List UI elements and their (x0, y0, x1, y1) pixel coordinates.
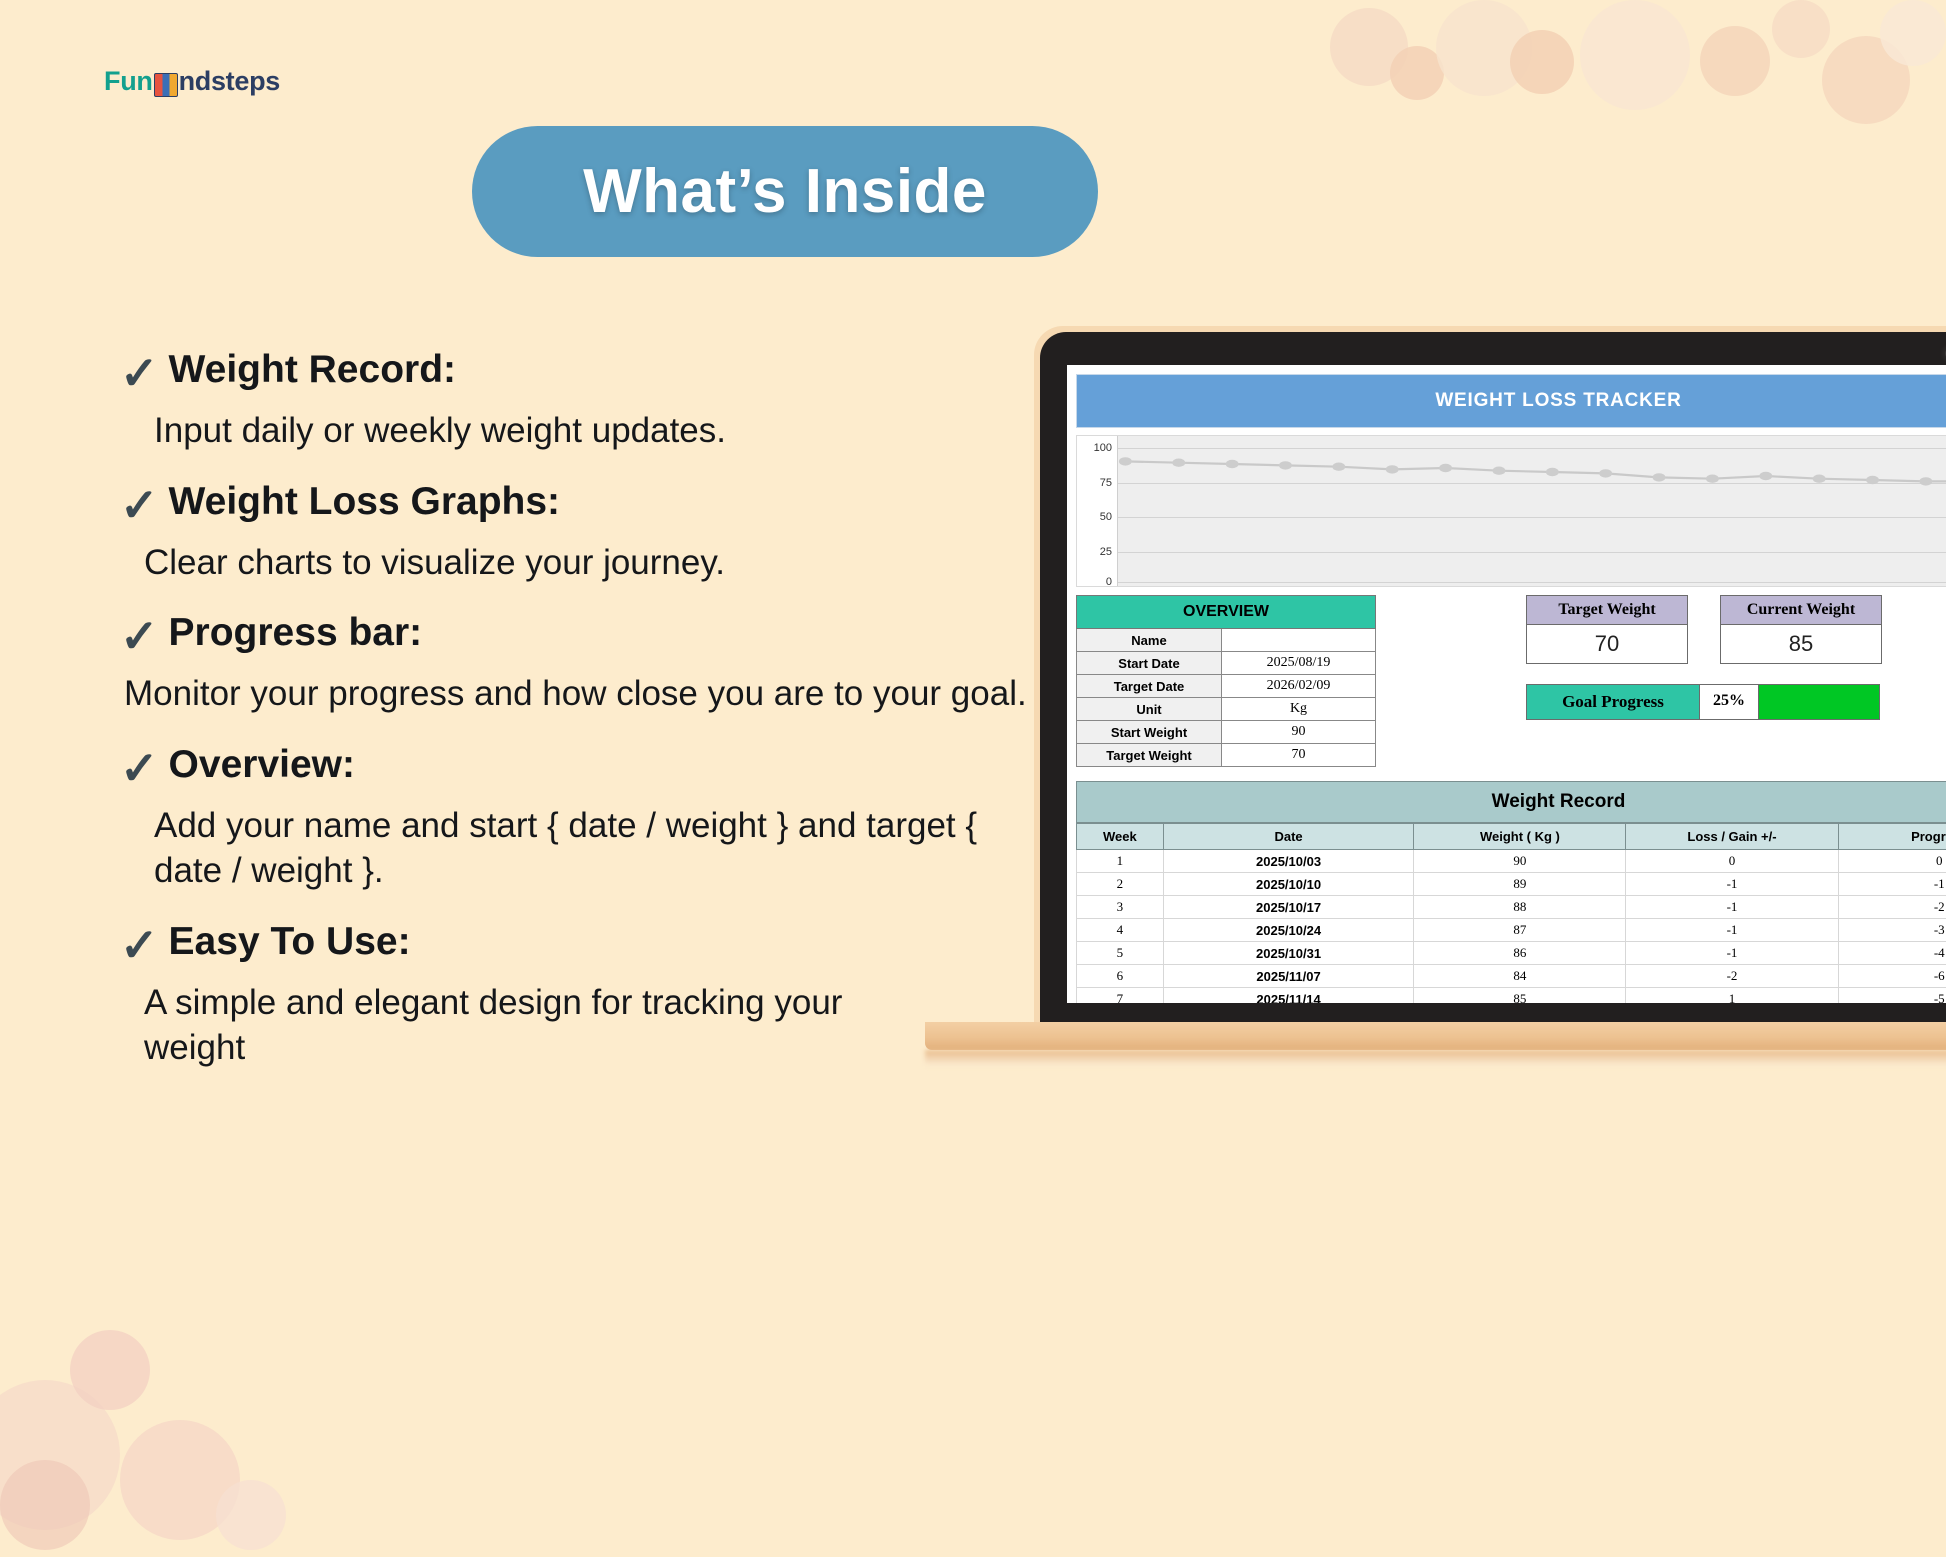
brand-name-part1: Fun (104, 66, 153, 97)
list-item: ✓ Weight Record: Input daily or weekly w… (120, 348, 1080, 454)
table-cell[interactable]: 4 (1077, 919, 1164, 942)
steps-icon (154, 73, 178, 97)
table-cell[interactable]: -5 (1838, 988, 1946, 1004)
overview-value[interactable] (1222, 629, 1376, 652)
list-item: ✓ Weight Loss Graphs: Clear charts to vi… (120, 480, 1080, 586)
table-cell[interactable]: 2025/10/24 (1163, 919, 1414, 942)
table-cell[interactable]: 2025/10/17 (1163, 896, 1414, 919)
feature-description: Clear charts to visualize your journey. (144, 540, 1080, 586)
table-cell[interactable]: 90 (1414, 850, 1626, 873)
bokeh-decoration (1580, 0, 1690, 110)
bokeh-decoration (1436, 0, 1532, 96)
overview-title: OVERVIEW (1077, 596, 1376, 629)
spreadsheet-banner-title: WEIGHT LOSS TRACKER (1435, 390, 1681, 412)
laptop-screen: WEIGHT LOSS TRACKER 100 75 50 25 0 (1067, 365, 1946, 1003)
feature-list: ✓ Weight Record: Input daily or weekly w… (120, 348, 1080, 1097)
table-cell[interactable]: 1 (1626, 988, 1838, 1004)
feature-title: Weight Loss Graphs: (169, 480, 561, 525)
table-cell[interactable]: 89 (1414, 873, 1626, 896)
feature-title: Weight Record: (169, 348, 456, 393)
table-cell[interactable]: -2 (1838, 896, 1946, 919)
chart-series-markers (1118, 436, 1946, 586)
table-cell[interactable]: 2025/10/31 (1163, 942, 1414, 965)
feature-title: Easy To Use: (169, 920, 411, 965)
table-row: Target Weight70 (1077, 744, 1376, 767)
y-tick-label: 50 (1100, 511, 1112, 523)
column-header: Date (1163, 824, 1414, 850)
feature-description: Monitor your progress and how close you … (124, 671, 1080, 717)
table-cell[interactable]: 7 (1077, 988, 1164, 1004)
table-cell[interactable]: -4 (1838, 942, 1946, 965)
column-header: Week (1077, 824, 1164, 850)
brand-name-part2: ndsteps (179, 66, 280, 97)
bokeh-decoration (216, 1480, 286, 1550)
table-row: Name (1077, 629, 1376, 652)
overview-label: Target Date (1077, 675, 1222, 698)
bokeh-decoration (1330, 8, 1408, 86)
table-row: 52025/10/3186-1-4 (1077, 942, 1946, 965)
weight-record-table: WeekDateWeight ( Kg )Loss / Gain +/-Prog… (1076, 823, 1946, 1003)
spreadsheet: WEIGHT LOSS TRACKER 100 75 50 25 0 (1067, 374, 1946, 1003)
goal-progress-fill (1759, 685, 1879, 719)
table-body: 12025/10/03900022025/10/1089-1-132025/10… (1077, 850, 1946, 1004)
bokeh-decoration (1510, 30, 1574, 94)
laptop-base-shadow (925, 1050, 1946, 1066)
weight-loss-chart: 100 75 50 25 0 (1076, 435, 1946, 587)
table-row: 22025/10/1089-1-1 (1077, 873, 1946, 896)
table-cell[interactable]: -1 (1626, 896, 1838, 919)
goal-progress-label: Goal Progress (1527, 685, 1700, 719)
bokeh-decoration (120, 1420, 240, 1540)
table-cell[interactable]: 0 (1626, 850, 1838, 873)
table-cell[interactable]: -1 (1626, 919, 1838, 942)
list-item: ✓ Overview: Add your name and start { da… (120, 743, 1080, 894)
page-title-text: What’s Inside (583, 156, 987, 227)
feature-description: Add your name and start { date / weight … (154, 803, 1034, 894)
table-row: 62025/11/0784-2-6 (1077, 965, 1946, 988)
y-tick-label: 25 (1100, 546, 1112, 558)
check-icon: ✓ (120, 350, 159, 396)
table-cell[interactable]: -3 (1838, 919, 1946, 942)
weight-record-section: Weight Record WeekDateWeight ( Kg )Loss … (1076, 781, 1946, 1003)
feature-description: Input daily or weekly weight updates. (154, 408, 1080, 454)
overview-value[interactable]: Kg (1222, 698, 1376, 721)
chart-plot-area (1117, 436, 1946, 586)
current-weight-value[interactable]: 85 (1721, 625, 1881, 663)
column-header: Loss / Gain +/- (1626, 824, 1838, 850)
weight-record-title: Weight Record (1076, 781, 1946, 823)
overview-label: Target Weight (1077, 744, 1222, 767)
table-cell[interactable]: 2025/11/07 (1163, 965, 1414, 988)
table-cell[interactable]: -1 (1626, 873, 1838, 896)
spreadsheet-banner: WEIGHT LOSS TRACKER (1076, 374, 1946, 428)
page-title: What’s Inside (472, 126, 1098, 257)
overview-table: OVERVIEW Name Start Date2025/08/19 Targe… (1076, 595, 1376, 767)
laptop-lid: WEIGHT LOSS TRACKER 100 75 50 25 0 (1040, 332, 1946, 1022)
table-cell[interactable]: 2025/10/03 (1163, 850, 1414, 873)
overview-label: Unit (1077, 698, 1222, 721)
table-cell[interactable]: 86 (1414, 942, 1626, 965)
table-cell[interactable]: 84 (1414, 965, 1626, 988)
target-weight-value[interactable]: 70 (1527, 625, 1687, 663)
table-cell[interactable]: 88 (1414, 896, 1626, 919)
goal-progress-bar: Goal Progress 25% (1526, 684, 1880, 720)
table-row: 72025/11/14851-5 (1077, 988, 1946, 1004)
target-weight-label: Target Weight (1527, 596, 1687, 625)
table-row: Start Weight90 (1077, 721, 1376, 744)
table-cell[interactable]: 85 (1414, 988, 1626, 1004)
overview-value[interactable]: 90 (1222, 721, 1376, 744)
bokeh-decoration (1772, 0, 1830, 58)
table-cell[interactable]: 2025/11/14 (1163, 988, 1414, 1004)
table-row: 42025/10/2487-1-3 (1077, 919, 1946, 942)
table-row: 12025/10/039000 (1077, 850, 1946, 873)
brand-logo: Funndsteps (104, 66, 280, 97)
check-icon: ✓ (120, 482, 159, 528)
table-cell[interactable]: -1 (1838, 873, 1946, 896)
bokeh-decoration (1700, 26, 1770, 96)
overview-value[interactable]: 2025/08/19 (1222, 652, 1376, 675)
feature-title: Progress bar: (169, 611, 423, 656)
overview-section: OVERVIEW Name Start Date2025/08/19 Targe… (1076, 595, 1946, 767)
overview-label: Start Weight (1077, 721, 1222, 744)
column-header: Progress (1838, 824, 1946, 850)
summary-cards: Target Weight 70 Current Weight 85 Goal … (1526, 595, 1882, 720)
laptop-base (925, 1022, 1946, 1050)
table-header-row: WeekDateWeight ( Kg )Loss / Gain +/-Prog… (1077, 824, 1946, 850)
table-cell[interactable]: 2 (1077, 873, 1164, 896)
table-row: Target Date2026/02/09 (1077, 675, 1376, 698)
overview-label: Start Date (1077, 652, 1222, 675)
table-row: UnitKg (1077, 698, 1376, 721)
table-cell[interactable]: -6 (1838, 965, 1946, 988)
table-row: Start Date2025/08/19 (1077, 652, 1376, 675)
bokeh-decoration (1390, 46, 1444, 100)
overview-value[interactable]: 2026/02/09 (1222, 675, 1376, 698)
table-cell[interactable]: 3 (1077, 896, 1164, 919)
bokeh-decoration (1822, 36, 1910, 124)
table-cell[interactable]: -2 (1626, 965, 1838, 988)
table-cell[interactable]: 6 (1077, 965, 1164, 988)
y-tick-label: 75 (1100, 477, 1112, 489)
current-weight-card: Current Weight 85 (1720, 595, 1882, 664)
y-tick-label: 100 (1094, 442, 1112, 454)
goal-progress-percent: 25% (1700, 685, 1759, 719)
table-cell[interactable]: 0 (1838, 850, 1946, 873)
laptop-mockup: WEIGHT LOSS TRACKER 100 75 50 25 0 (1040, 332, 1946, 1022)
overview-label: Name (1077, 629, 1222, 652)
list-item: ✓ Progress bar: Monitor your progress an… (120, 611, 1080, 717)
y-tick-label: 0 (1106, 576, 1112, 588)
table-cell[interactable]: -1 (1626, 942, 1838, 965)
target-weight-card: Target Weight 70 (1526, 595, 1688, 664)
overview-value[interactable]: 70 (1222, 744, 1376, 767)
table-cell[interactable]: 5 (1077, 942, 1164, 965)
check-icon: ✓ (120, 745, 159, 791)
bokeh-decoration (70, 1330, 150, 1410)
table-cell[interactable]: 2025/10/10 (1163, 873, 1414, 896)
bokeh-decoration (0, 1380, 120, 1530)
feature-title: Overview: (169, 743, 355, 788)
table-cell[interactable]: 87 (1414, 919, 1626, 942)
bokeh-decoration (1880, 0, 1946, 66)
bokeh-decoration (0, 1460, 90, 1550)
feature-description: A simple and elegant design for tracking… (144, 980, 904, 1071)
check-icon: ✓ (120, 922, 159, 968)
current-weight-label: Current Weight (1721, 596, 1881, 625)
table-cell[interactable]: 1 (1077, 850, 1164, 873)
table-row: 32025/10/1788-1-2 (1077, 896, 1946, 919)
chart-y-axis: 100 75 50 25 0 (1077, 436, 1117, 586)
check-icon: ✓ (120, 613, 159, 659)
column-header: Weight ( Kg ) (1414, 824, 1626, 850)
